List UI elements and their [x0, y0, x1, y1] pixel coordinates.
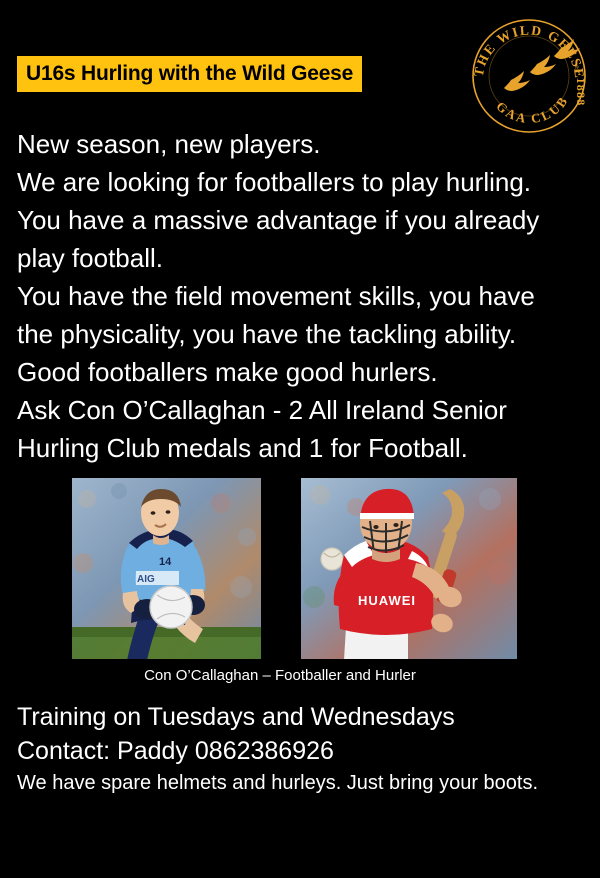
- body-line: play football.: [17, 239, 583, 277]
- photo-footballer: 14 AIG: [71, 477, 262, 660]
- svg-text:est.: est.: [573, 65, 581, 75]
- body-line: New season, new players.: [17, 125, 583, 163]
- body-line: the physicality, you have the tackling a…: [17, 315, 583, 353]
- photo-row: 14 AIG: [0, 477, 600, 660]
- club-crest: THE WILD GEESE GAA CLUB 1888 est.: [465, 12, 593, 140]
- body-line: Ask Con O’Callaghan - 2 All Ireland Seni…: [17, 391, 583, 429]
- equipment-note: We have spare helmets and hurleys. Just …: [17, 768, 587, 798]
- poster-title: U16s Hurling with the Wild Geese: [17, 56, 362, 92]
- training-info: Training on Tuesdays and Wednesdays: [17, 700, 587, 734]
- svg-text:AIG: AIG: [137, 574, 155, 585]
- body-line: Good footballers make good hurlers.: [17, 353, 583, 391]
- photo-hurler: HUAWEI: [300, 477, 518, 660]
- body-line: You have the field movement skills, you …: [17, 277, 583, 315]
- photo-caption: Con O’Callaghan – Footballer and Hurler: [0, 666, 560, 686]
- svg-text:14: 14: [159, 556, 172, 568]
- svg-text:HUAWEI: HUAWEI: [358, 593, 416, 608]
- body-line: We are looking for footballers to play h…: [17, 163, 583, 201]
- body-copy: New season, new players. We are looking …: [17, 125, 583, 467]
- poster-canvas: THE WILD GEESE GAA CLUB 1888 est. U16s H…: [0, 0, 600, 878]
- body-line: Hurling Club medals and 1 for Football.: [17, 429, 583, 467]
- svg-text:1888: 1888: [574, 78, 588, 107]
- footer-block: Training on Tuesdays and Wednesdays Cont…: [17, 700, 587, 798]
- contact-info: Contact: Paddy 0862386926: [17, 734, 587, 768]
- body-line: You have a massive advantage if you alre…: [17, 201, 583, 239]
